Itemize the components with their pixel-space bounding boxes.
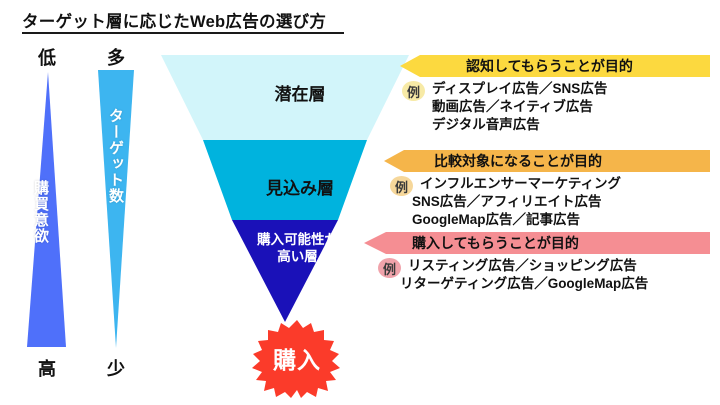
- callout-purchase-example-badge: 例: [378, 258, 401, 278]
- funnel-label-likely-line1: 購入可能性が: [215, 232, 380, 249]
- callout-awareness-example-line: デジタル音声広告: [432, 116, 710, 134]
- callout-purchase-example-line: リターゲティング広告／GoogleMap広告: [400, 275, 710, 293]
- diagram-canvas: ターゲット層に応じたWeb広告の選び方 低 購買意欲 高 多 ターゲット数 少 …: [0, 0, 720, 405]
- funnel-label-likely-line2: 高い層: [215, 249, 380, 266]
- funnel-label-likely: 購入可能性が 高い層: [215, 232, 380, 266]
- title-underline: [22, 32, 344, 34]
- callout-awareness-examples: 例 ディスプレイ広告／SNS広告 動画広告／ネイティブ広告 デジタル音声広告: [400, 80, 710, 134]
- callout-purchase-example-line: リスティング広告／ショッピング広告: [408, 257, 710, 275]
- callout-awareness-banner-text: 認知してもらうことが目的: [466, 55, 633, 77]
- gauge-purchase-intent-top-label: 低: [26, 44, 68, 70]
- callout-awareness-example-badge: 例: [402, 81, 425, 101]
- callout-purchase-banner-text: 購入してもらうことが目的: [412, 232, 579, 254]
- gauge-target-count-label: ターゲット数: [108, 108, 123, 204]
- callout-purchase: 購入してもらうことが目的 例 リスティング広告／ショッピング広告 リターゲティン…: [364, 232, 710, 293]
- page-title: ターゲット層に応じたWeb広告の選び方: [22, 8, 326, 32]
- callout-awareness-example-line: 動画広告／ネイティブ広告: [432, 98, 710, 116]
- callout-purchase-examples: 例 リスティング広告／ショッピング広告 リターゲティング広告／GoogleMap…: [364, 257, 710, 293]
- callout-awareness-example-line: ディスプレイ広告／SNS広告: [432, 80, 710, 98]
- gauge-target-count-bottom-label: 少: [95, 355, 137, 381]
- callout-awareness: 認知してもらうことが目的 例 ディスプレイ広告／SNS広告 動画広告／ネイティブ…: [400, 55, 710, 134]
- callout-consideration-example-line: SNS広告／アフィリエイト広告: [412, 193, 710, 211]
- callout-consideration: 比較対象になることが目的 例 インフルエンサーマーケティング SNS広告／アフィ…: [384, 150, 710, 229]
- funnel-label-potential: 潜在層: [205, 80, 395, 105]
- callout-consideration-examples: 例 インフルエンサーマーケティング SNS広告／アフィリエイト広告 Google…: [384, 175, 710, 229]
- gauge-target-count-top-label: 多: [95, 44, 137, 70]
- gauge-purchase-intent-bottom-label: 高: [26, 355, 68, 381]
- callout-consideration-example-badge: 例: [390, 176, 413, 196]
- callout-consideration-example-line: GoogleMap広告／記事広告: [412, 211, 710, 229]
- purchase-burst-shape: [243, 318, 351, 398]
- gauge-purchase-intent-label: 購買意欲: [33, 180, 48, 244]
- funnel-label-prospect: 見込み層: [205, 174, 395, 199]
- callout-consideration-banner-text: 比較対象になることが目的: [434, 150, 602, 172]
- callout-consideration-example-line: インフルエンサーマーケティング: [420, 175, 710, 193]
